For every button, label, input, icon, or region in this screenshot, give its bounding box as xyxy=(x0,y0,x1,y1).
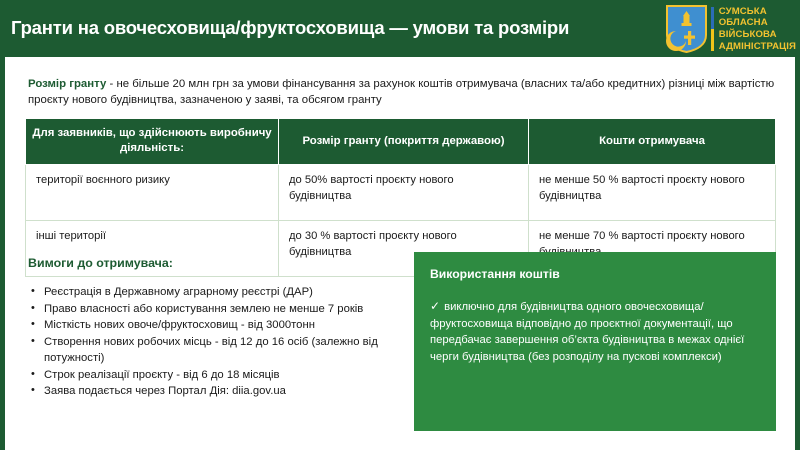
org-line-3: ВІЙСЬКОВА xyxy=(719,29,796,41)
list-item: Заява подається через Портал Дія: diia.g… xyxy=(28,383,404,400)
org-line-4: АДМІНІСТРАЦІЯ xyxy=(719,41,796,53)
slide-root: Гранти на овочесховища/фруктосховища — у… xyxy=(0,0,800,450)
org-line-1: СУМСЬКА xyxy=(719,6,796,18)
organization-logo: СУМСЬКА ОБЛАСНА ВІЙСЬКОВА АДМІНІСТРАЦІЯ xyxy=(666,4,796,54)
organization-name: СУМСЬКА ОБЛАСНА ВІЙСЬКОВА АДМІНІСТРАЦІЯ xyxy=(719,6,796,52)
check-icon: ✓ xyxy=(430,299,440,313)
coat-of-arms-icon xyxy=(666,5,707,53)
table-header-grant-size: Розмір гранту (покриття державою) xyxy=(279,119,529,165)
intro-body-text: - не більше 20 млн грн за умови фінансув… xyxy=(28,78,774,106)
intro-paragraph: Розмір гранту - не більше 20 млн грн за … xyxy=(28,76,780,108)
intro-lead-label: Розмір гранту xyxy=(28,78,106,90)
right-edge-bar xyxy=(795,0,800,450)
requirements-section: Вимоги до отримувача: Реєстрація в Держа… xyxy=(28,256,404,400)
logo-divider xyxy=(711,7,714,51)
table-row: території воєнного ризику до 50% вартост… xyxy=(26,165,776,221)
funds-usage-text: виключно для будівництва одного овочесхо… xyxy=(430,301,744,363)
table-header-recipient-funds: Кошти отримувача xyxy=(529,119,776,165)
list-item: Реєстрація в Державному аграрному реєстр… xyxy=(28,284,404,301)
funds-usage-title: Використання коштів xyxy=(430,266,760,282)
cell-category: території воєнного ризику xyxy=(26,165,279,221)
list-item: Строк реалізації проєкту - від 6 до 18 м… xyxy=(28,367,404,384)
requirements-list: Реєстрація в Державному аграрному реєстр… xyxy=(28,284,404,400)
page-title: Гранти на овочесховища/фруктосховища — у… xyxy=(11,19,569,38)
left-edge-bar xyxy=(0,0,5,450)
list-item: Право власності або користування землею … xyxy=(28,301,404,318)
list-item: Місткість нових овоче/фруктосховищ - від… xyxy=(28,317,404,334)
org-line-2: ОБЛАСНА xyxy=(719,17,796,29)
cell-grant-size: до 50% вартості проєкту нового будівницт… xyxy=(279,165,529,221)
funds-usage-text-wrapper: ✓виключно для будівництва одного овочесх… xyxy=(430,298,760,365)
table-header-applicants: Для заявників, що здійснюють виробничу д… xyxy=(26,119,279,165)
table-header-row: Для заявників, що здійснюють виробничу д… xyxy=(26,119,776,165)
list-item: Створення нових робочих місць - від 12 д… xyxy=(28,334,404,367)
slide-header: Гранти на овочесховища/фруктосховища — у… xyxy=(0,0,800,57)
cell-recipient-funds: не менше 50 % вартості проєкту нового бу… xyxy=(529,165,776,221)
funds-usage-box: Використання коштів ✓виключно для будівн… xyxy=(414,252,776,431)
requirements-title: Вимоги до отримувача: xyxy=(28,256,404,270)
